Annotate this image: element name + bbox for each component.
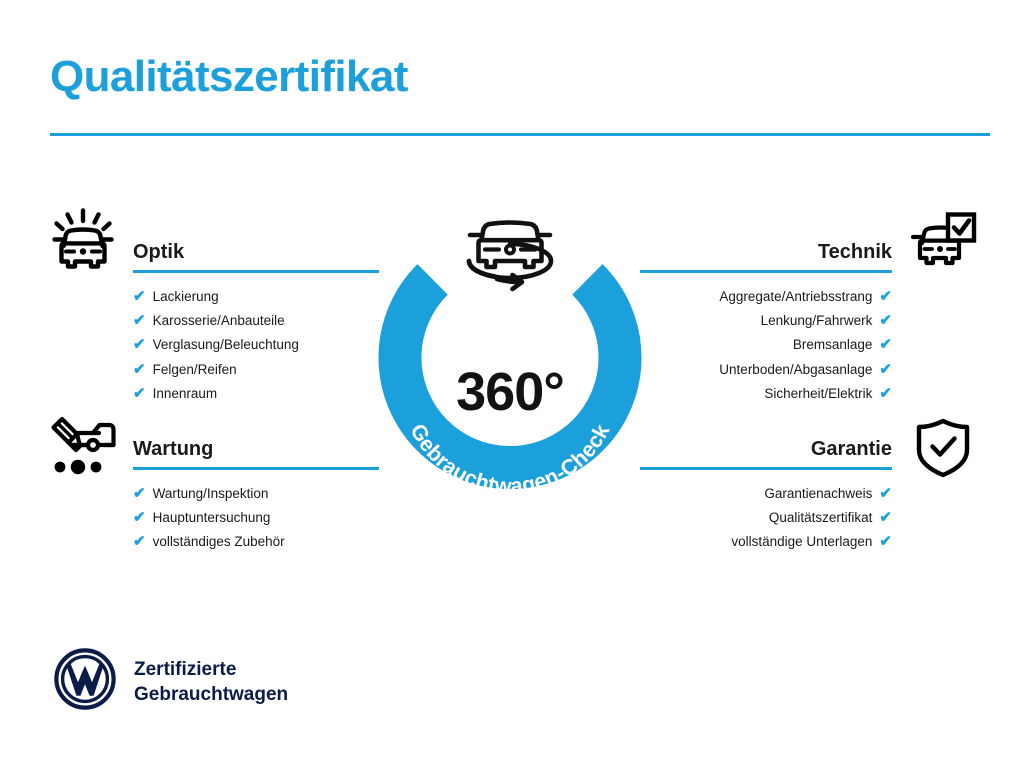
check-icon: ✔ bbox=[133, 530, 146, 554]
section-technik-head: Technik bbox=[640, 239, 892, 273]
list-item-label: Garantienachweis bbox=[764, 482, 872, 506]
list-item: Garantienachweis ✔ bbox=[640, 482, 892, 506]
section-technik-underline bbox=[640, 270, 892, 273]
list-item: Bremsanlage ✔ bbox=[640, 333, 892, 357]
check-icon: ✔ bbox=[133, 482, 146, 506]
car-shine-icon bbox=[48, 208, 118, 283]
footer-brand-line2: Gebrauchtwagen bbox=[134, 682, 288, 707]
list-item: ✔ vollständiges Zubehör bbox=[133, 530, 379, 554]
section-wartung-head: Wartung bbox=[133, 436, 379, 470]
list-item-label: Unterboden/Abgasanlage bbox=[719, 358, 872, 382]
volkswagen-logo bbox=[54, 648, 116, 715]
section-technik-title: Technik bbox=[640, 239, 892, 265]
list-item-label: Lackierung bbox=[153, 285, 219, 309]
page-title: Qualitätszertifikat bbox=[50, 54, 408, 100]
list-item: Qualitätszertifikat ✔ bbox=[640, 506, 892, 530]
section-optik: Optik ✔ Lackierung ✔ Karosserie/Anbautei… bbox=[133, 239, 379, 406]
list-item: vollständige Unterlagen ✔ bbox=[640, 530, 892, 554]
check-icon: ✔ bbox=[879, 358, 892, 382]
footer-brand-text: Zertifizierte Gebrauchtwagen bbox=[134, 657, 288, 707]
section-wartung-title: Wartung bbox=[133, 436, 379, 462]
section-optik-list-wrap: ✔ Lackierung ✔ Karosserie/Anbauteile ✔ V… bbox=[133, 285, 379, 406]
list-item: Aggregate/Antriebsstrang ✔ bbox=[640, 285, 892, 309]
section-optik-list: ✔ Lackierung ✔ Karosserie/Anbauteile ✔ V… bbox=[133, 285, 379, 406]
section-garantie-list-wrap: Garantienachweis ✔ Qualitätszertifikat ✔… bbox=[640, 482, 892, 555]
list-item: ✔ Lackierung bbox=[133, 285, 379, 309]
list-item-label: Bremsanlage bbox=[793, 333, 873, 357]
check-icon: ✔ bbox=[879, 285, 892, 309]
section-optik-title: Optik bbox=[133, 239, 379, 265]
section-technik-list: Aggregate/Antriebsstrang ✔ Lenkung/Fahrw… bbox=[640, 285, 892, 406]
list-item: ✔ Innenraum bbox=[133, 382, 379, 406]
check-icon: ✔ bbox=[133, 358, 146, 382]
check-icon: ✔ bbox=[133, 333, 146, 357]
list-item: ✔ Wartung/Inspektion bbox=[133, 482, 379, 506]
list-item-label: Verglasung/Beleuchtung bbox=[153, 333, 299, 357]
section-garantie-underline bbox=[640, 467, 892, 470]
certificate-page: Qualitätszertifikat bbox=[0, 0, 1024, 768]
list-item-label: vollständige Unterlagen bbox=[731, 530, 872, 554]
section-garantie-list: Garantienachweis ✔ Qualitätszertifikat ✔… bbox=[640, 482, 892, 555]
section-technik-list-wrap: Aggregate/Antriebsstrang ✔ Lenkung/Fahrw… bbox=[640, 285, 892, 406]
section-technik: Technik Aggregate/Antriebsstrang ✔ Lenku… bbox=[640, 239, 892, 406]
list-item-label: Sicherheit/Elektrik bbox=[764, 382, 872, 406]
footer-brand-lockup: Zertifizierte Gebrauchtwagen bbox=[54, 648, 288, 715]
list-item-label: Aggregate/Antriebsstrang bbox=[719, 285, 872, 309]
check-icon: ✔ bbox=[879, 382, 892, 406]
gebrauchtwagen-check-badge: Gebrauchtwagen-Check 360° bbox=[378, 193, 642, 498]
section-wartung-underline bbox=[133, 467, 379, 470]
car-pencil-service-icon bbox=[47, 417, 117, 484]
section-optik-underline bbox=[133, 270, 379, 273]
check-icon: ✔ bbox=[133, 309, 146, 333]
check-icon: ✔ bbox=[879, 333, 892, 357]
section-wartung-list: ✔ Wartung/Inspektion ✔ Hauptuntersuchung… bbox=[133, 482, 379, 555]
list-item-label: Felgen/Reifen bbox=[153, 358, 237, 382]
list-item: ✔ Felgen/Reifen bbox=[133, 358, 379, 382]
section-wartung-list-wrap: ✔ Wartung/Inspektion ✔ Hauptuntersuchung… bbox=[133, 482, 379, 555]
list-item-label: Wartung/Inspektion bbox=[153, 482, 269, 506]
list-item-label: Innenraum bbox=[153, 382, 218, 406]
list-item: ✔ Hauptuntersuchung bbox=[133, 506, 379, 530]
header-divider bbox=[50, 133, 990, 136]
list-item: ✔ Karosserie/Anbauteile bbox=[133, 309, 379, 333]
section-garantie-head: Garantie bbox=[640, 436, 892, 470]
list-item-label: vollständiges Zubehör bbox=[153, 530, 285, 554]
list-item: Sicherheit/Elektrik ✔ bbox=[640, 382, 892, 406]
check-icon: ✔ bbox=[133, 382, 146, 406]
list-item: ✔ Verglasung/Beleuchtung bbox=[133, 333, 379, 357]
shield-check-icon bbox=[914, 417, 972, 484]
check-icon: ✔ bbox=[879, 309, 892, 333]
check-icon: ✔ bbox=[133, 285, 146, 309]
check-icon: ✔ bbox=[879, 530, 892, 554]
list-item: Lenkung/Fahrwerk ✔ bbox=[640, 309, 892, 333]
check-icon: ✔ bbox=[879, 482, 892, 506]
list-item-label: Lenkung/Fahrwerk bbox=[761, 309, 873, 333]
section-garantie-title: Garantie bbox=[640, 436, 892, 462]
list-item-label: Hauptuntersuchung bbox=[153, 506, 271, 530]
list-item-label: Karosserie/Anbauteile bbox=[153, 309, 285, 333]
check-icon: ✔ bbox=[879, 506, 892, 530]
section-optik-head: Optik bbox=[133, 239, 379, 273]
check-icon: ✔ bbox=[133, 506, 146, 530]
section-garantie: Garantie Garantienachweis ✔ Qualitätszer… bbox=[640, 436, 892, 555]
car-checkbox-icon bbox=[911, 212, 977, 279]
section-wartung: Wartung ✔ Wartung/Inspektion ✔ Hauptunte… bbox=[133, 436, 379, 555]
list-item-label: Qualitätszertifikat bbox=[769, 506, 873, 530]
car-rotate-icon bbox=[469, 223, 551, 290]
list-item: Unterboden/Abgasanlage ✔ bbox=[640, 358, 892, 382]
footer-brand-line1: Zertifizierte bbox=[134, 657, 288, 682]
